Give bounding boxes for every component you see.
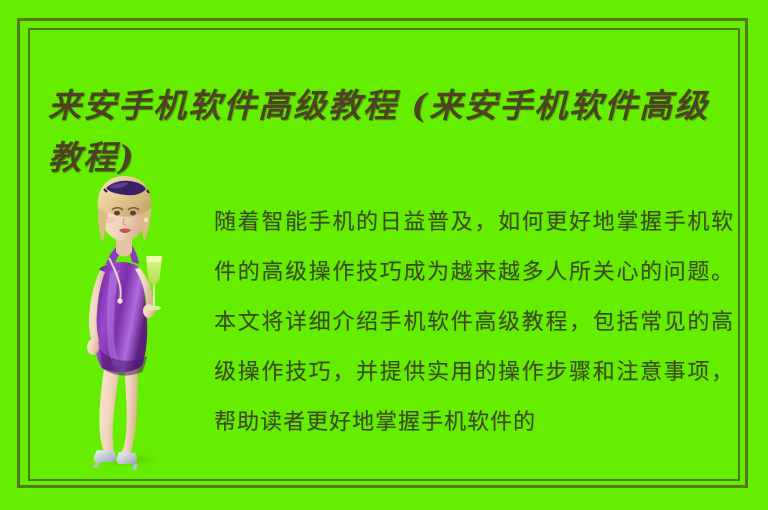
- illustration-woman-with-champagne-glass: [62, 172, 212, 472]
- earring: [144, 218, 148, 222]
- article-body: 随着智能手机的日益普及，如何更好地掌握手机软件的高级操作技巧成为越来越多人所关心…: [214, 198, 734, 448]
- necklace-pendant: [117, 298, 122, 303]
- poster-canvas: 来安手机软件高级教程 (来安手机软件高级教程): [0, 0, 768, 510]
- hand-left: [87, 339, 99, 355]
- page-title: 来安手机软件高级教程 (来安手机软件高级教程): [48, 80, 728, 184]
- woman-illustration-svg: [62, 172, 212, 472]
